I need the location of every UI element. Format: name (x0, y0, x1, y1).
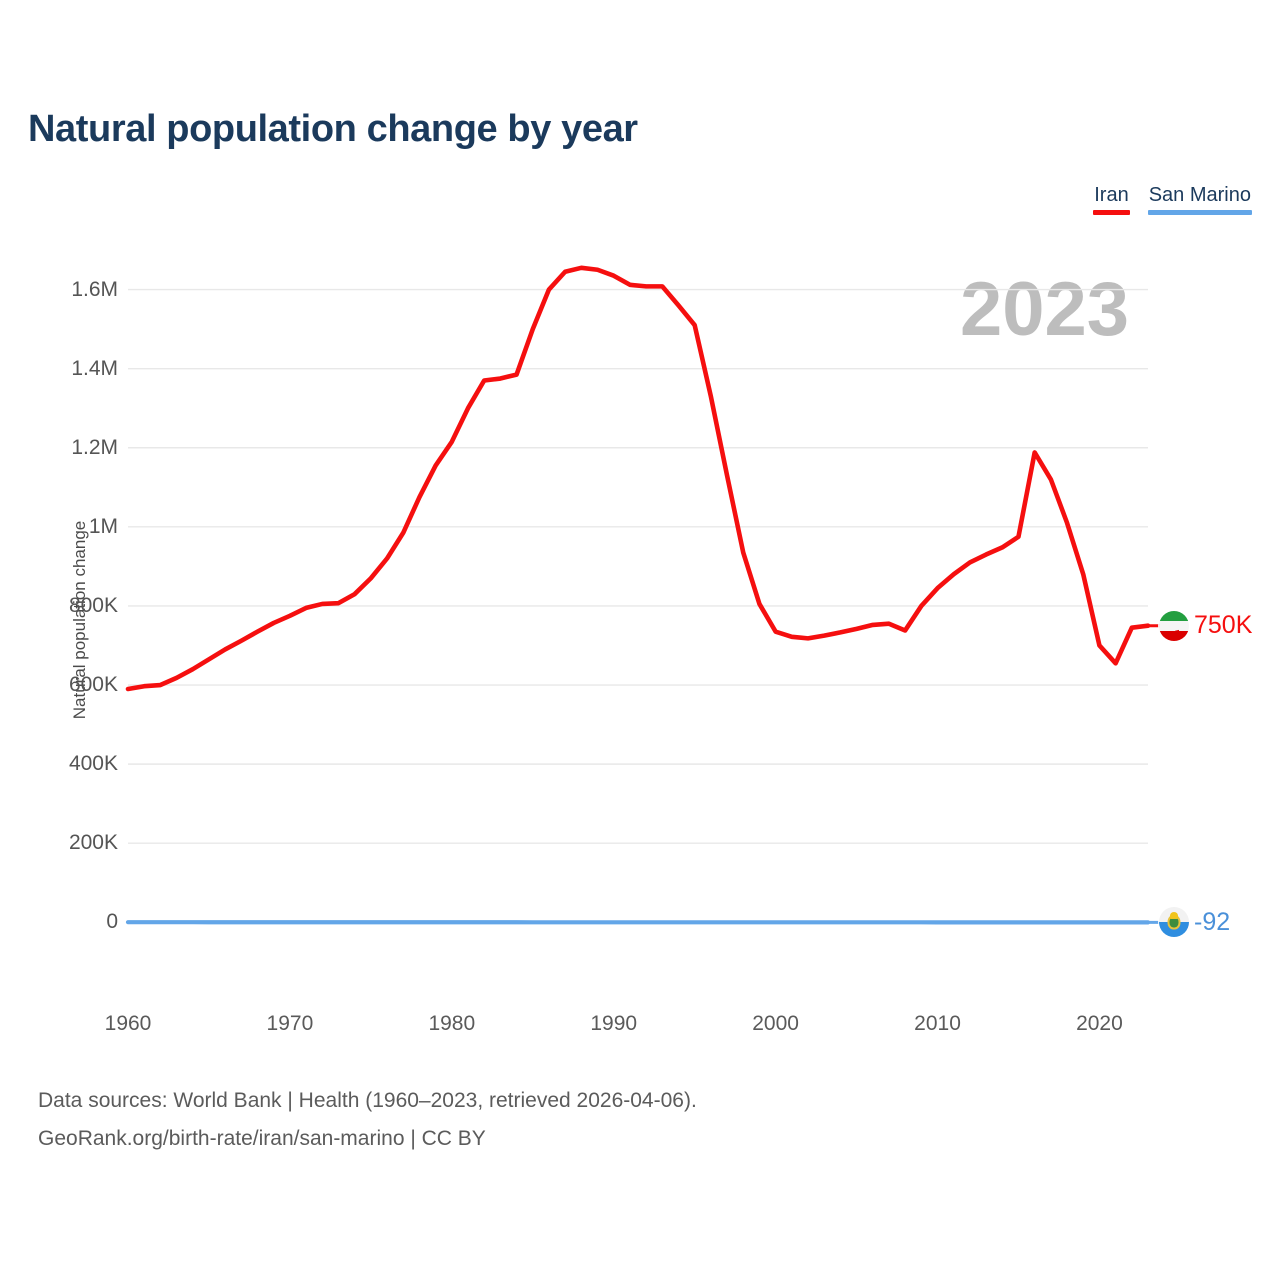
y-tick-label: 200K (0, 831, 118, 855)
legend-item-iran[interactable]: Iran (1093, 184, 1129, 215)
footer-attribution: GeoRank.org/birth-rate/iran/san-marino |… (38, 1120, 697, 1158)
year-watermark: 2023 (960, 272, 1129, 348)
y-tick-label: 1.2M (0, 436, 118, 460)
gridlines (128, 290, 1148, 844)
legend-label-san-marino: San Marino (1148, 184, 1252, 206)
endpoint-value-san-marino: -92 (1194, 908, 1230, 937)
footer-data-sources: Data sources: World Bank | Health (1960–… (38, 1082, 697, 1120)
endpoint-value-iran: 750K (1194, 611, 1252, 640)
x-tick-label: 2010 (914, 1012, 961, 1036)
y-tick-label: 1.4M (0, 357, 118, 381)
endpoint-marker-iran: ِ 750K (1159, 611, 1252, 641)
endpoint-marker-san-marino: -92 (1159, 907, 1230, 937)
legend-swatch-iran (1093, 210, 1129, 215)
y-tick-label: 800K (0, 594, 118, 618)
legend-item-san-marino[interactable]: San Marino (1148, 184, 1252, 215)
x-tick-label: 1980 (428, 1012, 475, 1036)
x-tick-label: 1990 (590, 1012, 637, 1036)
iran-flag-icon: ِ (1159, 611, 1189, 641)
x-tick-label: 2000 (752, 1012, 799, 1036)
y-tick-label: 1.6M (0, 278, 118, 302)
footer: Data sources: World Bank | Health (1960–… (38, 1082, 697, 1158)
legend-label-iran: Iran (1093, 184, 1129, 206)
legend: Iran San Marino (1093, 184, 1252, 215)
legend-swatch-san-marino (1148, 210, 1252, 215)
y-tick-label: 400K (0, 752, 118, 776)
y-tick-label: 600K (0, 673, 118, 697)
page-title: Natural population change by year (28, 108, 638, 151)
san-marino-flag-icon (1159, 907, 1189, 937)
y-tick-label: 0 (0, 910, 118, 934)
x-tick-label: 1960 (105, 1012, 152, 1036)
x-tick-label: 2020 (1076, 1012, 1123, 1036)
y-tick-label: 1M (0, 515, 118, 539)
x-tick-label: 1970 (267, 1012, 314, 1036)
series-lines (128, 268, 1166, 923)
